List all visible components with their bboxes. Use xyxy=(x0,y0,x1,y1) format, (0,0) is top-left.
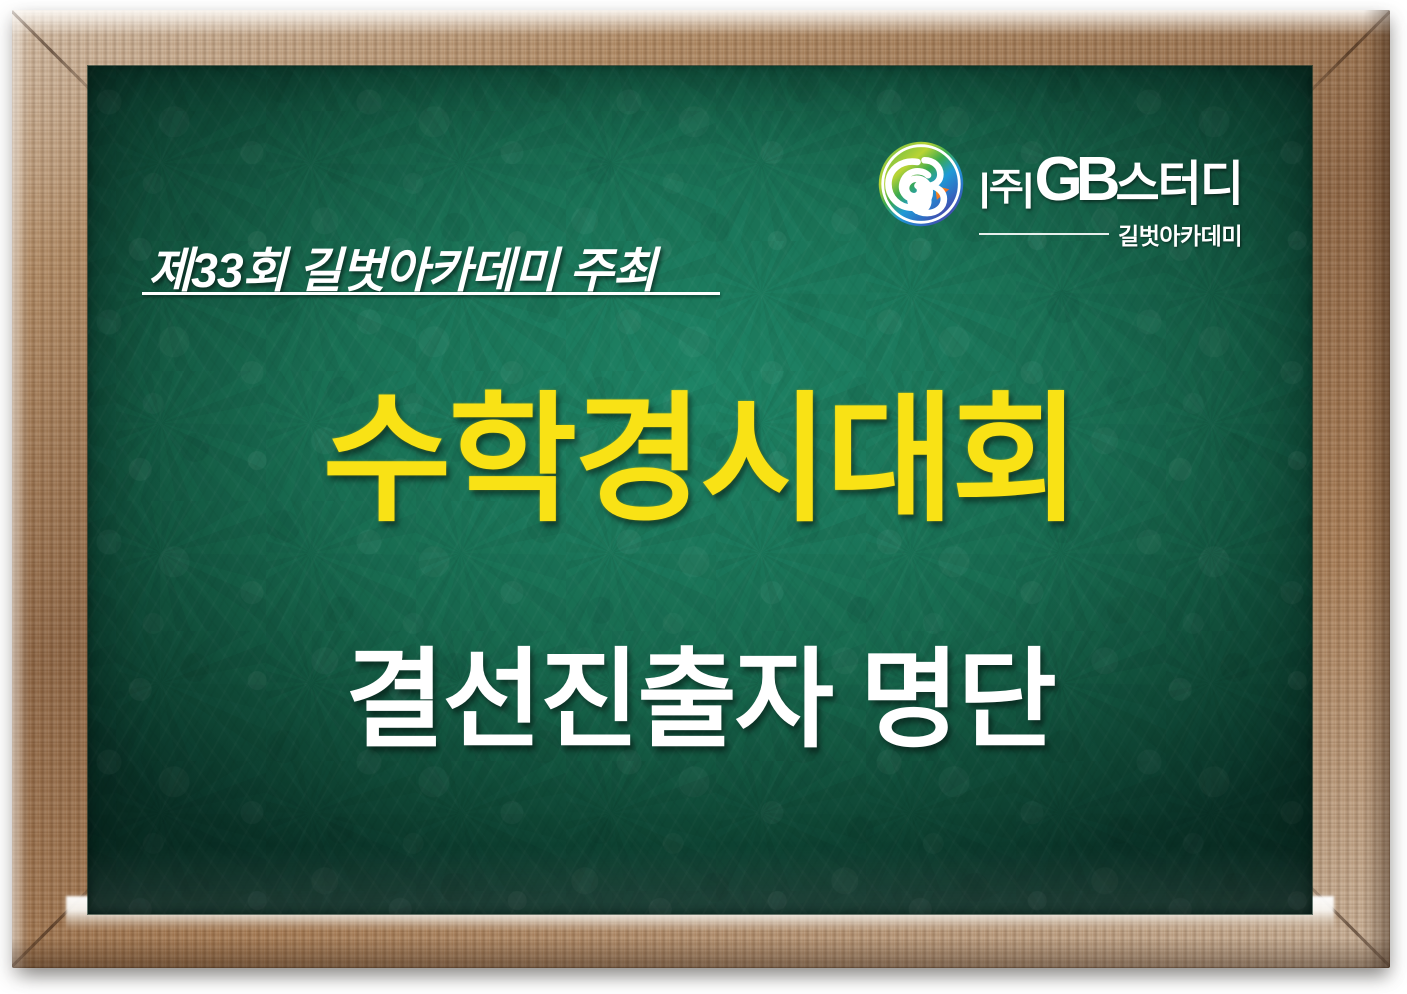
chalkboard: 제33회 길벗아카데미 주최 수학경시대회 결선진출자 명단 xyxy=(88,66,1312,914)
brand-academy-row: 길벗아카데미 xyxy=(979,217,1242,251)
organizer-line: 제33회 길벗아카데미 주최 xyxy=(148,231,656,301)
brand-divider-rule xyxy=(979,233,1109,235)
brand-text-block: |주| GB 스터디 길벗아카데미 xyxy=(979,140,1242,251)
main-title: 수학경시대회 xyxy=(88,390,1312,530)
frame-top-highlight xyxy=(12,10,1390,36)
poster-stage: 제33회 길벗아카데미 주최 수학경시대회 결선진출자 명단 xyxy=(0,0,1407,994)
brand-name-latin: GB xyxy=(1035,144,1114,215)
brand-lockup: |주| GB 스터디 길벗아카데미 xyxy=(877,140,1242,251)
brand-name-hangul: 스터디 xyxy=(1116,144,1242,214)
poster-content: 제33회 길벗아카데미 주최 수학경시대회 결선진출자 명단 xyxy=(88,66,1312,914)
sub-title: 결선진출자 명단 xyxy=(88,646,1312,754)
frame-bottom-shadow xyxy=(12,938,1390,968)
brand-corp-mark: |주| xyxy=(979,156,1032,211)
frame-left-highlight xyxy=(12,10,28,968)
brand-academy-name: 길벗아카데미 xyxy=(1118,217,1242,251)
organizer-underline xyxy=(142,292,720,295)
brand-name-row: |주| GB 스터디 xyxy=(979,144,1242,215)
gb-circle-swirl-logo-icon xyxy=(877,140,965,228)
frame-right-shadow xyxy=(1364,10,1390,968)
